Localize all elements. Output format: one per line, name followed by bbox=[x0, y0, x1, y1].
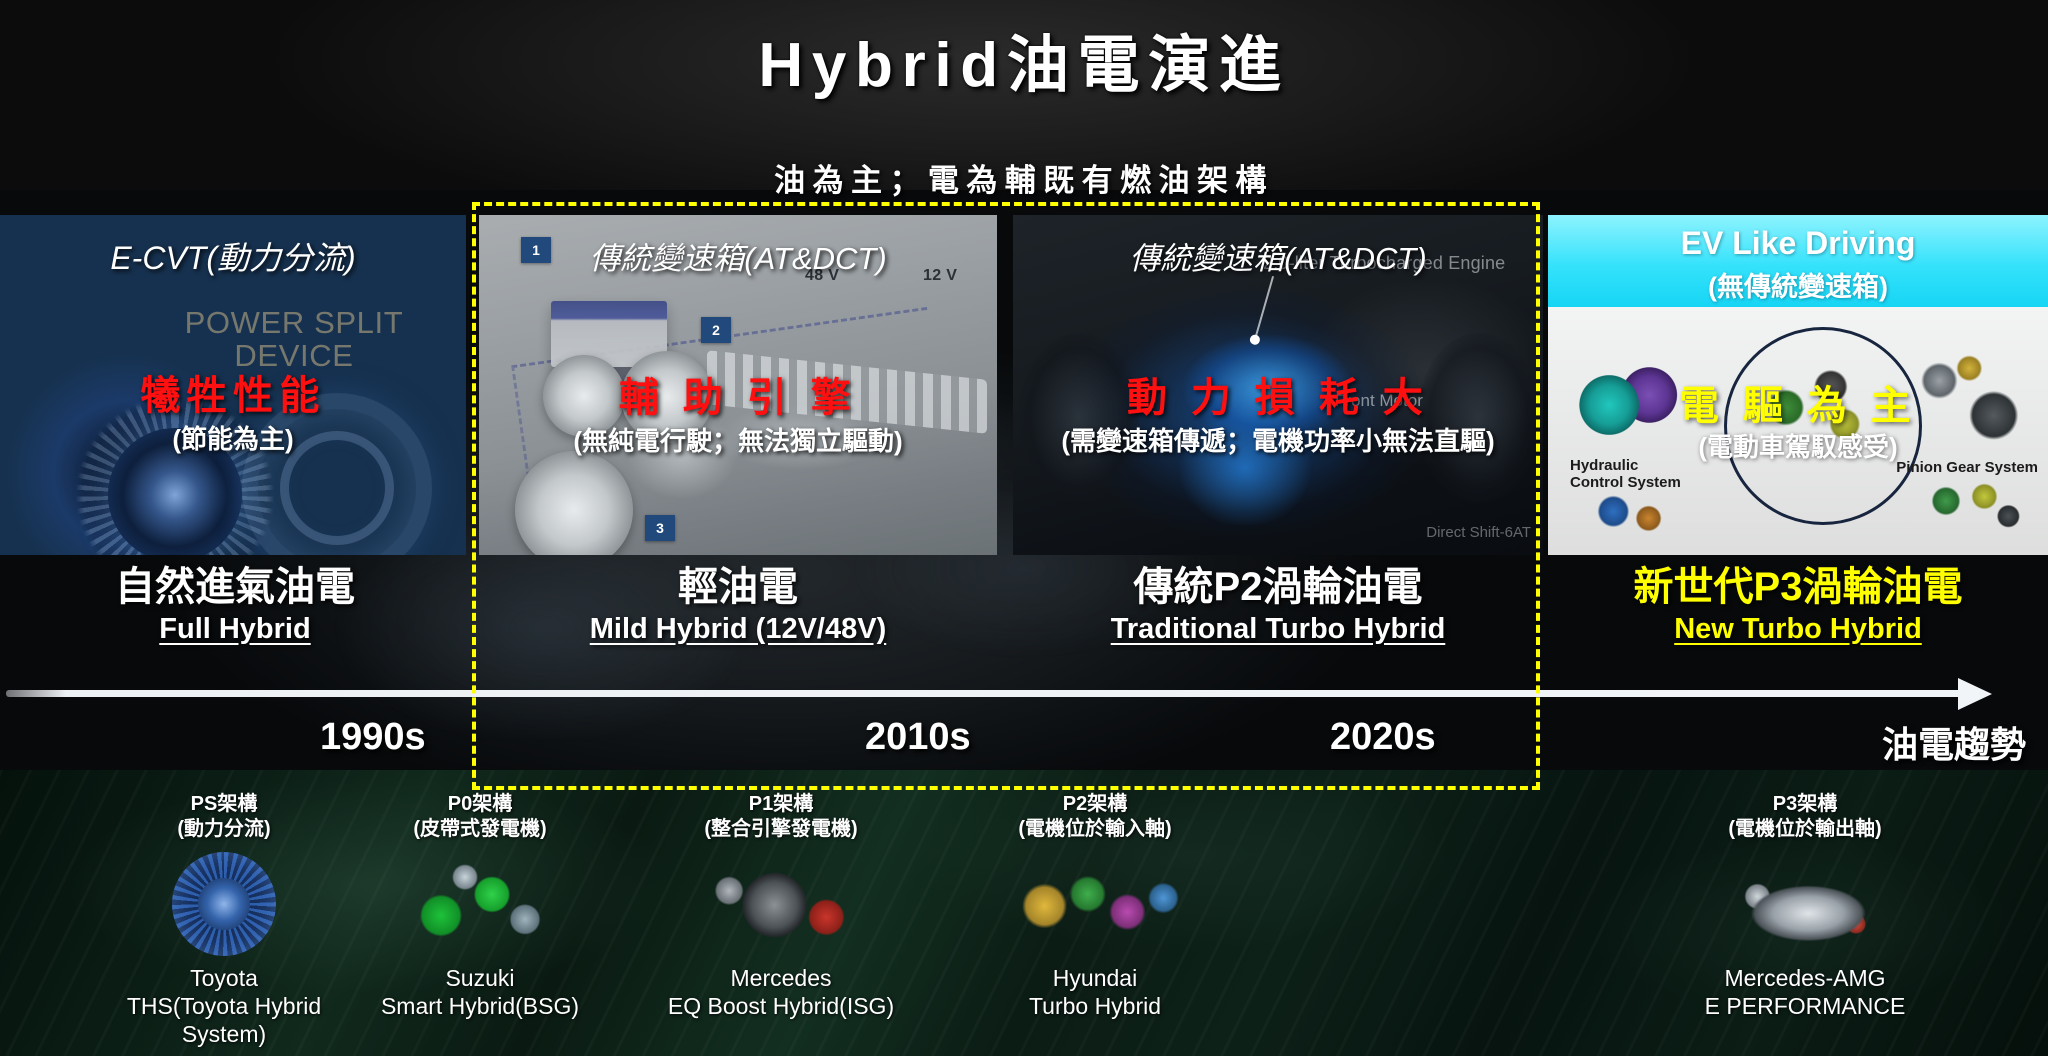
architecture-p3[interactable]: P3架構 (電機位於輸出軸) Mercedes-AMG E PERFORMANC… bbox=[1660, 792, 1950, 1020]
arch-3-code: P1架構 bbox=[640, 792, 922, 817]
arch-4-code: P2架構 bbox=[950, 792, 1240, 817]
power-split-gear-icon bbox=[172, 852, 276, 956]
panel3-subcaption: (需變速箱傳遞；電機功率小無法直驅) bbox=[1013, 421, 1543, 458]
page-subtitle: 油為主；電為輔既有燃油架構 bbox=[0, 155, 2048, 200]
stage-full-hybrid: 自然進氣油電 Full Hybrid bbox=[40, 565, 430, 647]
panel1-subcaption: (節能為主) bbox=[0, 419, 466, 456]
arch-4-desc: (電機位於輸入軸) bbox=[950, 817, 1240, 842]
transmission-caption: Direct Shift-6AT bbox=[1426, 524, 1531, 541]
arch-4-system: Turbo Hybrid bbox=[950, 992, 1240, 1020]
arch-3-system: EQ Boost Hybrid(ISG) bbox=[640, 992, 922, 1020]
timeline-arrow-icon bbox=[1958, 678, 1992, 710]
panel1-red-callout: 犧牲性能 bbox=[0, 363, 466, 421]
stage-new-turbo-hybrid: 新世代P3渦輪油電 New Turbo Hybrid bbox=[1548, 565, 2048, 647]
arch-3-desc: (整合引擎發電機) bbox=[640, 817, 922, 842]
timeline: 1990s 2010s 2020s 油電趨勢 bbox=[0, 672, 2048, 782]
timeline-decade-1990s: 1990s bbox=[320, 716, 426, 759]
panel1-heading: E-CVT(動力分流) bbox=[0, 233, 466, 279]
arch-1-brand: Toyota bbox=[110, 964, 338, 992]
architecture-p0[interactable]: P0架構 (皮帶式發電機) Suzuki Smart Hybrid(BSG) bbox=[360, 792, 600, 1020]
architecture-p1[interactable]: P1架構 (整合引擎發電機) Mercedes EQ Boost Hybrid(… bbox=[640, 792, 922, 1020]
arch-5-desc: (電機位於輸出軸) bbox=[1660, 817, 1950, 842]
panel3-heading: 傳統變速箱(AT&DCT) bbox=[1013, 233, 1543, 278]
stage-label-row: 自然進氣油電 Full Hybrid 輕油電 Mild Hybrid (12V/… bbox=[0, 565, 2048, 665]
panel-p3-new-turbo-hybrid[interactable]: Hydraulic Control System Pinion Gear Sys… bbox=[1548, 215, 2048, 555]
belt-starter-generator-icon bbox=[405, 856, 555, 952]
stage-2-zh: 輕油電 bbox=[479, 565, 997, 610]
architecture-ps[interactable]: PS架構 (動力分流) Toyota THS(Toyota Hybrid Sys… bbox=[110, 792, 338, 1048]
output-shaft-motor-icon bbox=[1720, 854, 1890, 960]
stage-1-en: Full Hybrid bbox=[40, 612, 430, 647]
input-shaft-motor-icon bbox=[1005, 854, 1185, 954]
arch-4-brand: Hyundai bbox=[950, 964, 1240, 992]
panel-row: POWER SPLIT DEVICE E-CVT(動力分流) 犧牲性能 (節能為… bbox=[0, 215, 2048, 555]
callout-badge-2: 2 bbox=[701, 317, 731, 343]
panel2-heading: 傳統變速箱(AT&DCT) bbox=[479, 233, 997, 278]
page-title: Hybrid油電演進 bbox=[0, 14, 2048, 104]
arch-3-icon-wrap bbox=[640, 848, 922, 960]
panel2-subcaption: (無純電行駛；無法獨立驅動) bbox=[479, 421, 997, 458]
stage-mild-hybrid: 輕油電 Mild Hybrid (12V/48V) bbox=[479, 565, 997, 647]
stage-4-en: New Turbo Hybrid bbox=[1548, 612, 2048, 647]
arch-2-brand: Suzuki bbox=[360, 964, 600, 992]
arch-1-code: PS架構 bbox=[110, 792, 338, 817]
panel-mild-hybrid[interactable]: 1 2 3 48 V 12 V 傳統變速箱(AT&DCT) 輔 助 引 擎 (無… bbox=[479, 215, 997, 555]
panel-full-hybrid[interactable]: POWER SPLIT DEVICE E-CVT(動力分流) 犧牲性能 (節能為… bbox=[0, 215, 466, 555]
arch-4-icon-wrap bbox=[950, 848, 1240, 960]
panel4-subcaption: (電動車駕馭感受) bbox=[1548, 427, 2048, 464]
stage-2-en: Mild Hybrid (12V/48V) bbox=[479, 612, 997, 647]
timeline-trend-label: 油電趨勢 bbox=[1882, 716, 2026, 768]
panel4-heading-en: EV Like Driving bbox=[1548, 225, 2048, 262]
arch-1-desc: (動力分流) bbox=[110, 817, 338, 842]
panel3-red-callout: 動 力 損 耗 大 bbox=[1013, 365, 1543, 423]
timeline-axis bbox=[6, 690, 1964, 697]
timeline-decade-2010s: 2010s bbox=[865, 716, 971, 759]
stage-4-zh: 新世代P3渦輪油電 bbox=[1548, 565, 2048, 610]
panel-p2-turbo-hybrid[interactable]: 2.0-liter Turbocharged Engine Front Moto… bbox=[1013, 215, 1543, 555]
callout-badge-3: 3 bbox=[645, 515, 675, 541]
arch-2-code: P0架構 bbox=[360, 792, 600, 817]
arch-2-desc: (皮帶式發電機) bbox=[360, 817, 600, 842]
arch-2-icon-wrap bbox=[360, 848, 600, 960]
arch-5-icon-wrap bbox=[1660, 848, 1950, 960]
panel4-heading-zh: (無傳統變速箱) bbox=[1548, 265, 2048, 304]
integrated-starter-generator-icon bbox=[700, 854, 862, 956]
architecture-p2[interactable]: P2架構 (電機位於輸入軸) Hyundai Turbo Hybrid bbox=[950, 792, 1240, 1020]
stage-1-zh: 自然進氣油電 bbox=[40, 565, 430, 610]
architecture-row: PS架構 (動力分流) Toyota THS(Toyota Hybrid Sys… bbox=[0, 792, 2048, 1056]
panel4-yellow-callout: 電 驅 為 主 bbox=[1548, 373, 2048, 431]
stage-traditional-turbo-hybrid: 傳統P2渦輪油電 Traditional Turbo Hybrid bbox=[1013, 565, 1543, 647]
arch-5-code: P3架構 bbox=[1660, 792, 1950, 817]
arch-1-system: THS(Toyota Hybrid System) bbox=[110, 992, 338, 1048]
timeline-decade-2020s: 2020s bbox=[1330, 716, 1436, 759]
stage-3-zh: 傳統P2渦輪油電 bbox=[1013, 565, 1543, 610]
arch-1-icon-wrap bbox=[110, 848, 338, 960]
arch-5-brand: Mercedes-AMG bbox=[1660, 964, 1950, 992]
panel2-red-callout: 輔 助 引 擎 bbox=[479, 365, 997, 423]
arch-3-brand: Mercedes bbox=[640, 964, 922, 992]
arch-5-system: E PERFORMANCE bbox=[1660, 992, 1950, 1020]
stage-3-en: Traditional Turbo Hybrid bbox=[1013, 612, 1543, 647]
arch-2-system: Smart Hybrid(BSG) bbox=[360, 992, 600, 1020]
